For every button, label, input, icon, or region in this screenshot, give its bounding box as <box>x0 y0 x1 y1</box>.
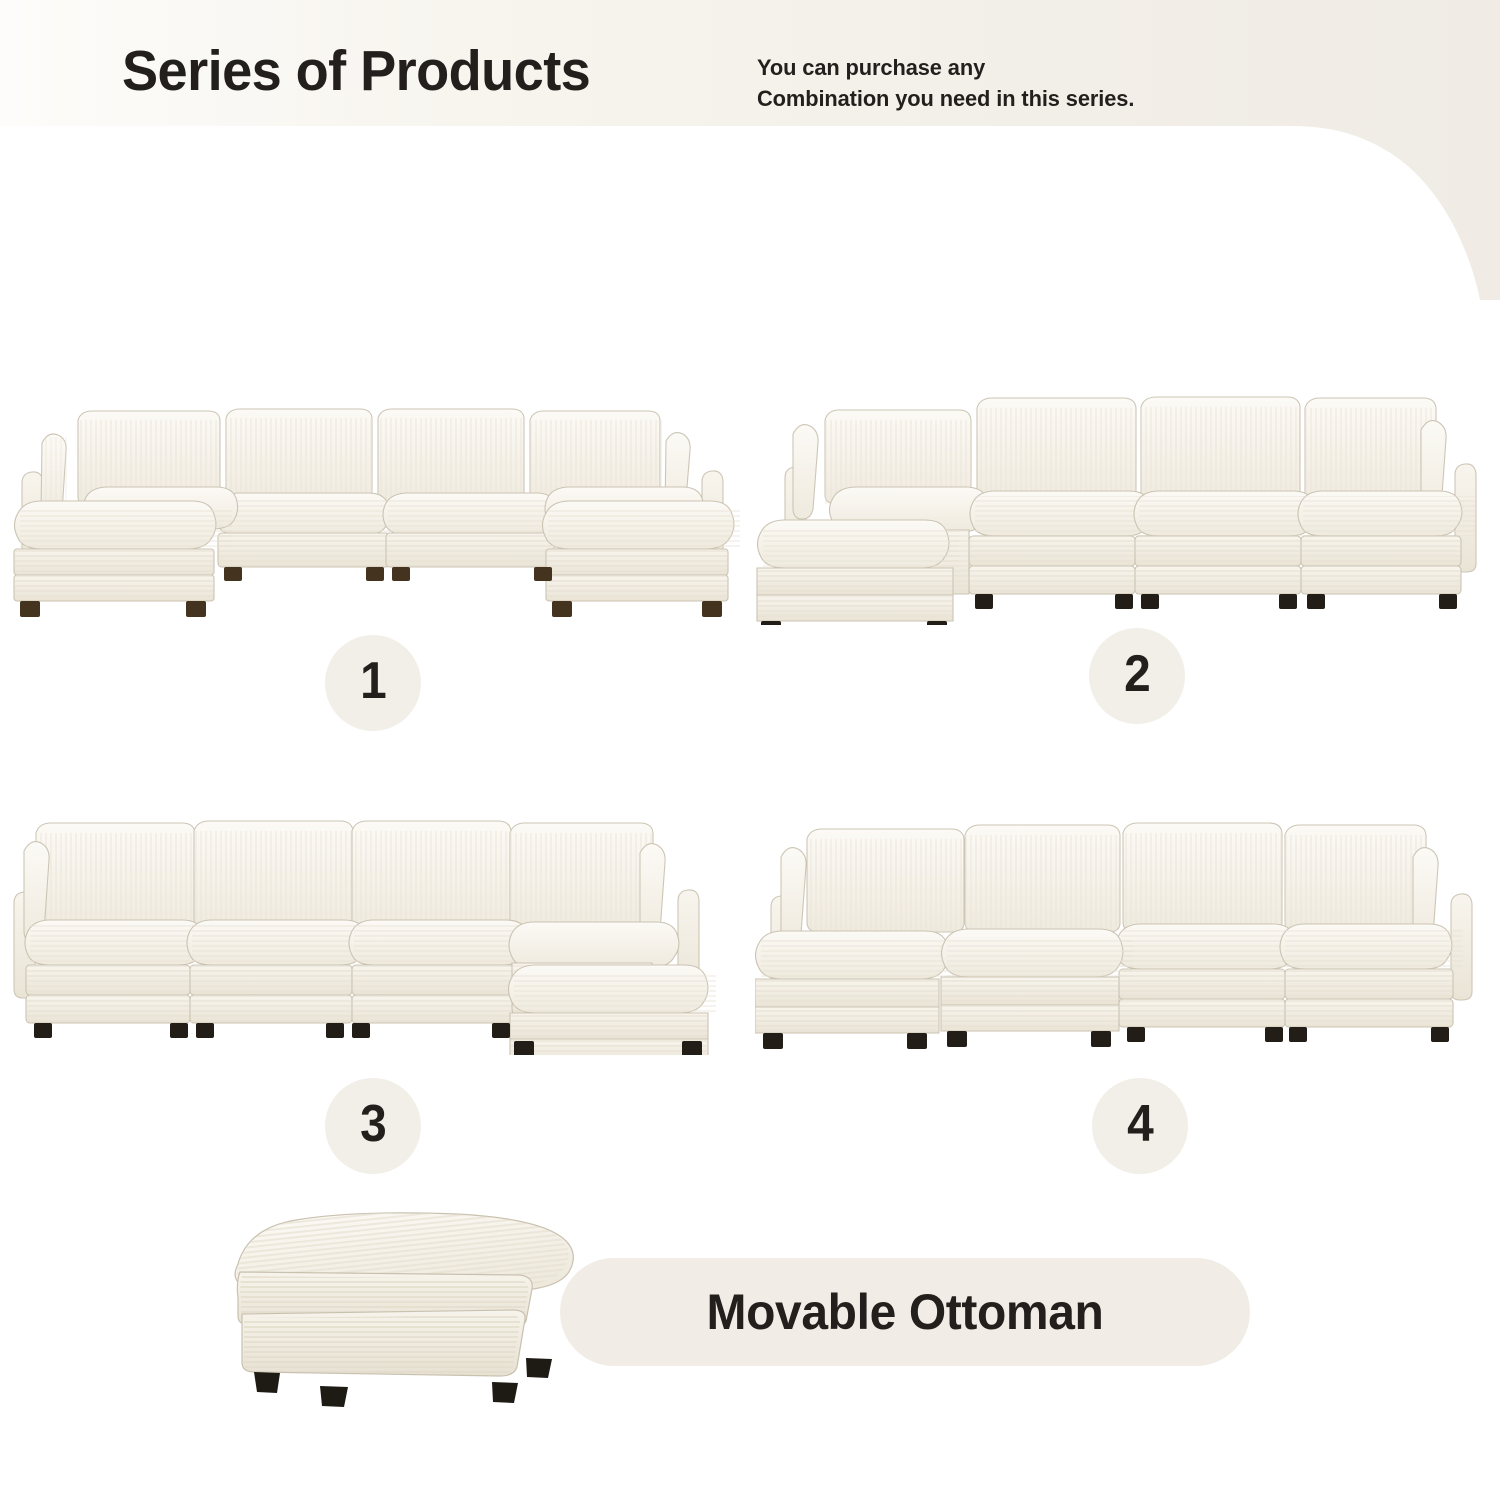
combination-4-illustration <box>755 805 1495 1055</box>
combination-4-badge: 4 <box>1092 1078 1188 1174</box>
combination-3-badge: 3 <box>325 1078 421 1174</box>
infographic-page: Series of Products You can purchase any … <box>0 0 1500 1500</box>
combination-3-number: 3 <box>360 1098 387 1150</box>
combination-2-badge-wrap: 2 <box>1089 628 1185 724</box>
combination-3-illustration <box>0 805 740 1055</box>
page-title: Series of Products <box>122 38 590 104</box>
combination-1-illustration <box>0 385 740 625</box>
page-subtitle: You can purchase any Combination you nee… <box>757 52 1134 114</box>
combination-2-illustration <box>755 380 1495 625</box>
movable-ottoman-banner: Movable Ottoman <box>560 1258 1250 1366</box>
movable-ottoman-illustration[interactable] <box>200 1186 600 1416</box>
combination-1-number: 1 <box>360 655 387 707</box>
header-text-group: Series of Products You can purchase any … <box>0 0 1500 160</box>
combination-1[interactable]: 1 <box>0 385 740 735</box>
combination-1-badge: 1 <box>325 635 421 731</box>
combination-4-number: 4 <box>1127 1098 1154 1150</box>
combination-2-number-label: 2 <box>1124 648 1151 700</box>
movable-ottoman-label: Movable Ottoman <box>574 1258 1236 1366</box>
